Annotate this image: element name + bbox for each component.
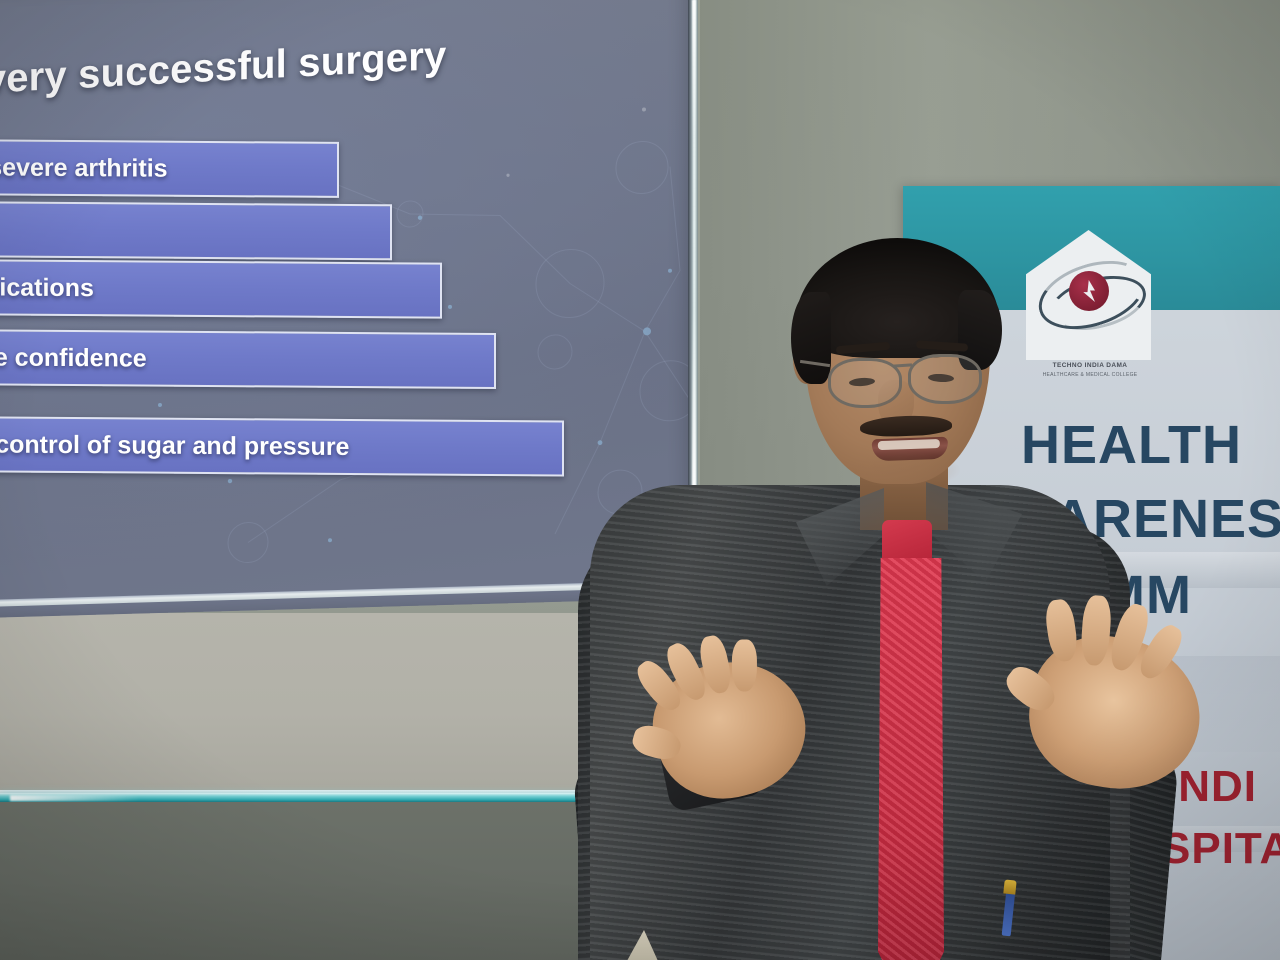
slide-bar xyxy=(0,201,392,260)
slide-bar-label: tter control of sugar and pressure xyxy=(0,430,349,462)
slide-bar: medications xyxy=(0,259,442,319)
teeth xyxy=(878,439,940,450)
light-strip-glow xyxy=(10,795,140,801)
screenshot-root: a very successful surgery for severe art… xyxy=(0,0,1280,960)
banner-red-line-1: INDI xyxy=(1165,762,1257,812)
presenter xyxy=(560,230,1120,960)
banner-red-line-2: SPITA xyxy=(1161,824,1280,874)
tie-knot xyxy=(882,520,932,564)
slide-bar-label: for severe arthritis xyxy=(0,153,168,184)
glasses-lens-right xyxy=(908,354,982,404)
pocket-pen-cap-icon xyxy=(1003,879,1016,894)
slide-bar-label: More confidence xyxy=(0,343,147,373)
slide-bar: More confidence xyxy=(0,329,496,389)
hair-left-side xyxy=(791,292,831,384)
slide-bar-label: medications xyxy=(0,273,94,303)
slide-bar: tter control of sugar and pressure xyxy=(0,416,564,476)
chin-shadow xyxy=(850,452,960,488)
slide-bar: for severe arthritis xyxy=(0,139,339,198)
finger xyxy=(732,640,757,692)
necktie xyxy=(878,558,944,960)
